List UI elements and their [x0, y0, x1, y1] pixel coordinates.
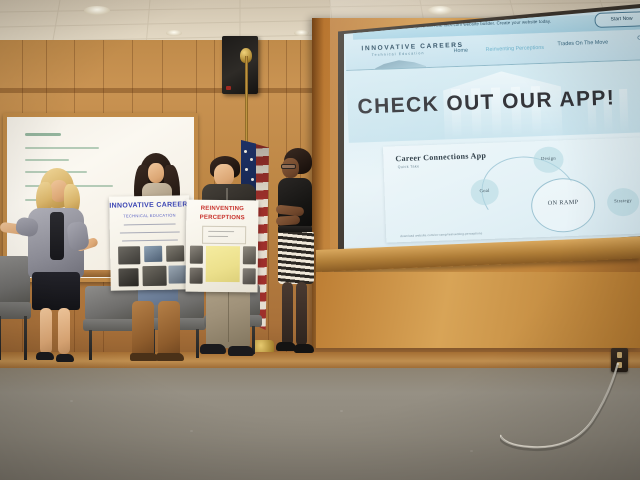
arm-crossed — [276, 215, 301, 226]
ceiling-light — [166, 30, 182, 36]
sleeve-right — [66, 221, 90, 252]
app-panel: Career Connections App Quick Take ON RAM… — [383, 137, 640, 243]
poster-photo — [118, 246, 140, 264]
app-panel-title: Career Connections App — [395, 151, 486, 163]
ceiling-light — [84, 6, 110, 15]
poster-photo — [142, 266, 166, 286]
bubble-design-label: Design — [533, 155, 563, 161]
poster-center-paper — [206, 246, 240, 282]
wall-speaker — [222, 36, 258, 94]
start-now-button[interactable]: Start Now — [594, 11, 640, 28]
poster-photo — [118, 268, 138, 286]
striped-skirt — [278, 232, 314, 284]
poster-photo — [168, 265, 186, 283]
shirt — [50, 212, 64, 260]
poster-title: INNOVATIVE CAREERS — [109, 201, 189, 209]
face — [214, 164, 234, 186]
on-ramp-circle: ON RAMP — [530, 177, 596, 233]
bubble-goal-label: Goal — [471, 188, 499, 194]
on-ramp-label: ON RAMP — [532, 198, 594, 207]
boot-sole — [156, 353, 184, 361]
poster-photo — [243, 246, 256, 264]
power-cord — [500, 355, 640, 465]
poster-photo — [243, 268, 256, 284]
person-student-3 — [274, 148, 322, 380]
nav-item-home[interactable]: Home — [454, 48, 469, 55]
shoe — [276, 342, 296, 351]
app-panel-subtitle: Quick Take — [398, 164, 420, 169]
screenshot-scene: This site was designed with the WiX.com … — [0, 0, 640, 480]
poster-photo — [190, 246, 203, 264]
face — [148, 163, 164, 183]
boot — [158, 301, 180, 359]
ceiling-light — [428, 6, 452, 15]
leg-tights — [296, 282, 307, 346]
poster-photo — [166, 245, 184, 261]
bubble-strategy-label: Strategy — [607, 198, 639, 204]
ceiling-light — [294, 30, 309, 36]
poster-photo — [144, 246, 162, 262]
poster-title-line2: PERCEPTIONS — [186, 215, 258, 222]
shoe — [294, 344, 314, 353]
poster-photo — [190, 268, 203, 284]
leg — [58, 308, 70, 354]
skirt — [32, 272, 80, 310]
cabinet-lower-panel — [316, 272, 640, 348]
poster-innovative-careers: INNOVATIVE CAREERS TECHNICAL EDUCATION — [109, 195, 191, 290]
person-presenter-1 — [6, 168, 102, 368]
shoe — [200, 344, 226, 354]
leg-tights — [282, 282, 293, 346]
leg — [40, 308, 52, 354]
projection-screen: This site was designed with the WiX.com … — [344, 8, 640, 256]
shoe — [228, 346, 254, 356]
start-now-label: Start Now — [595, 15, 640, 23]
shoe — [56, 354, 74, 362]
shoe — [36, 352, 54, 360]
poster-reinventing-perceptions: REINVENTING PERCEPTIONS — [186, 200, 259, 293]
glasses-icon — [281, 164, 296, 169]
bubble-strategy: Strategy — [607, 188, 640, 217]
poster-title: REINVENTING — [186, 206, 258, 213]
boot — [132, 301, 154, 359]
app-panel-caption: download website.com/on-ramp/reinventing… — [400, 231, 482, 238]
poster-subtitle: TECHNICAL EDUCATION — [109, 212, 189, 218]
boot-sole — [130, 353, 158, 361]
